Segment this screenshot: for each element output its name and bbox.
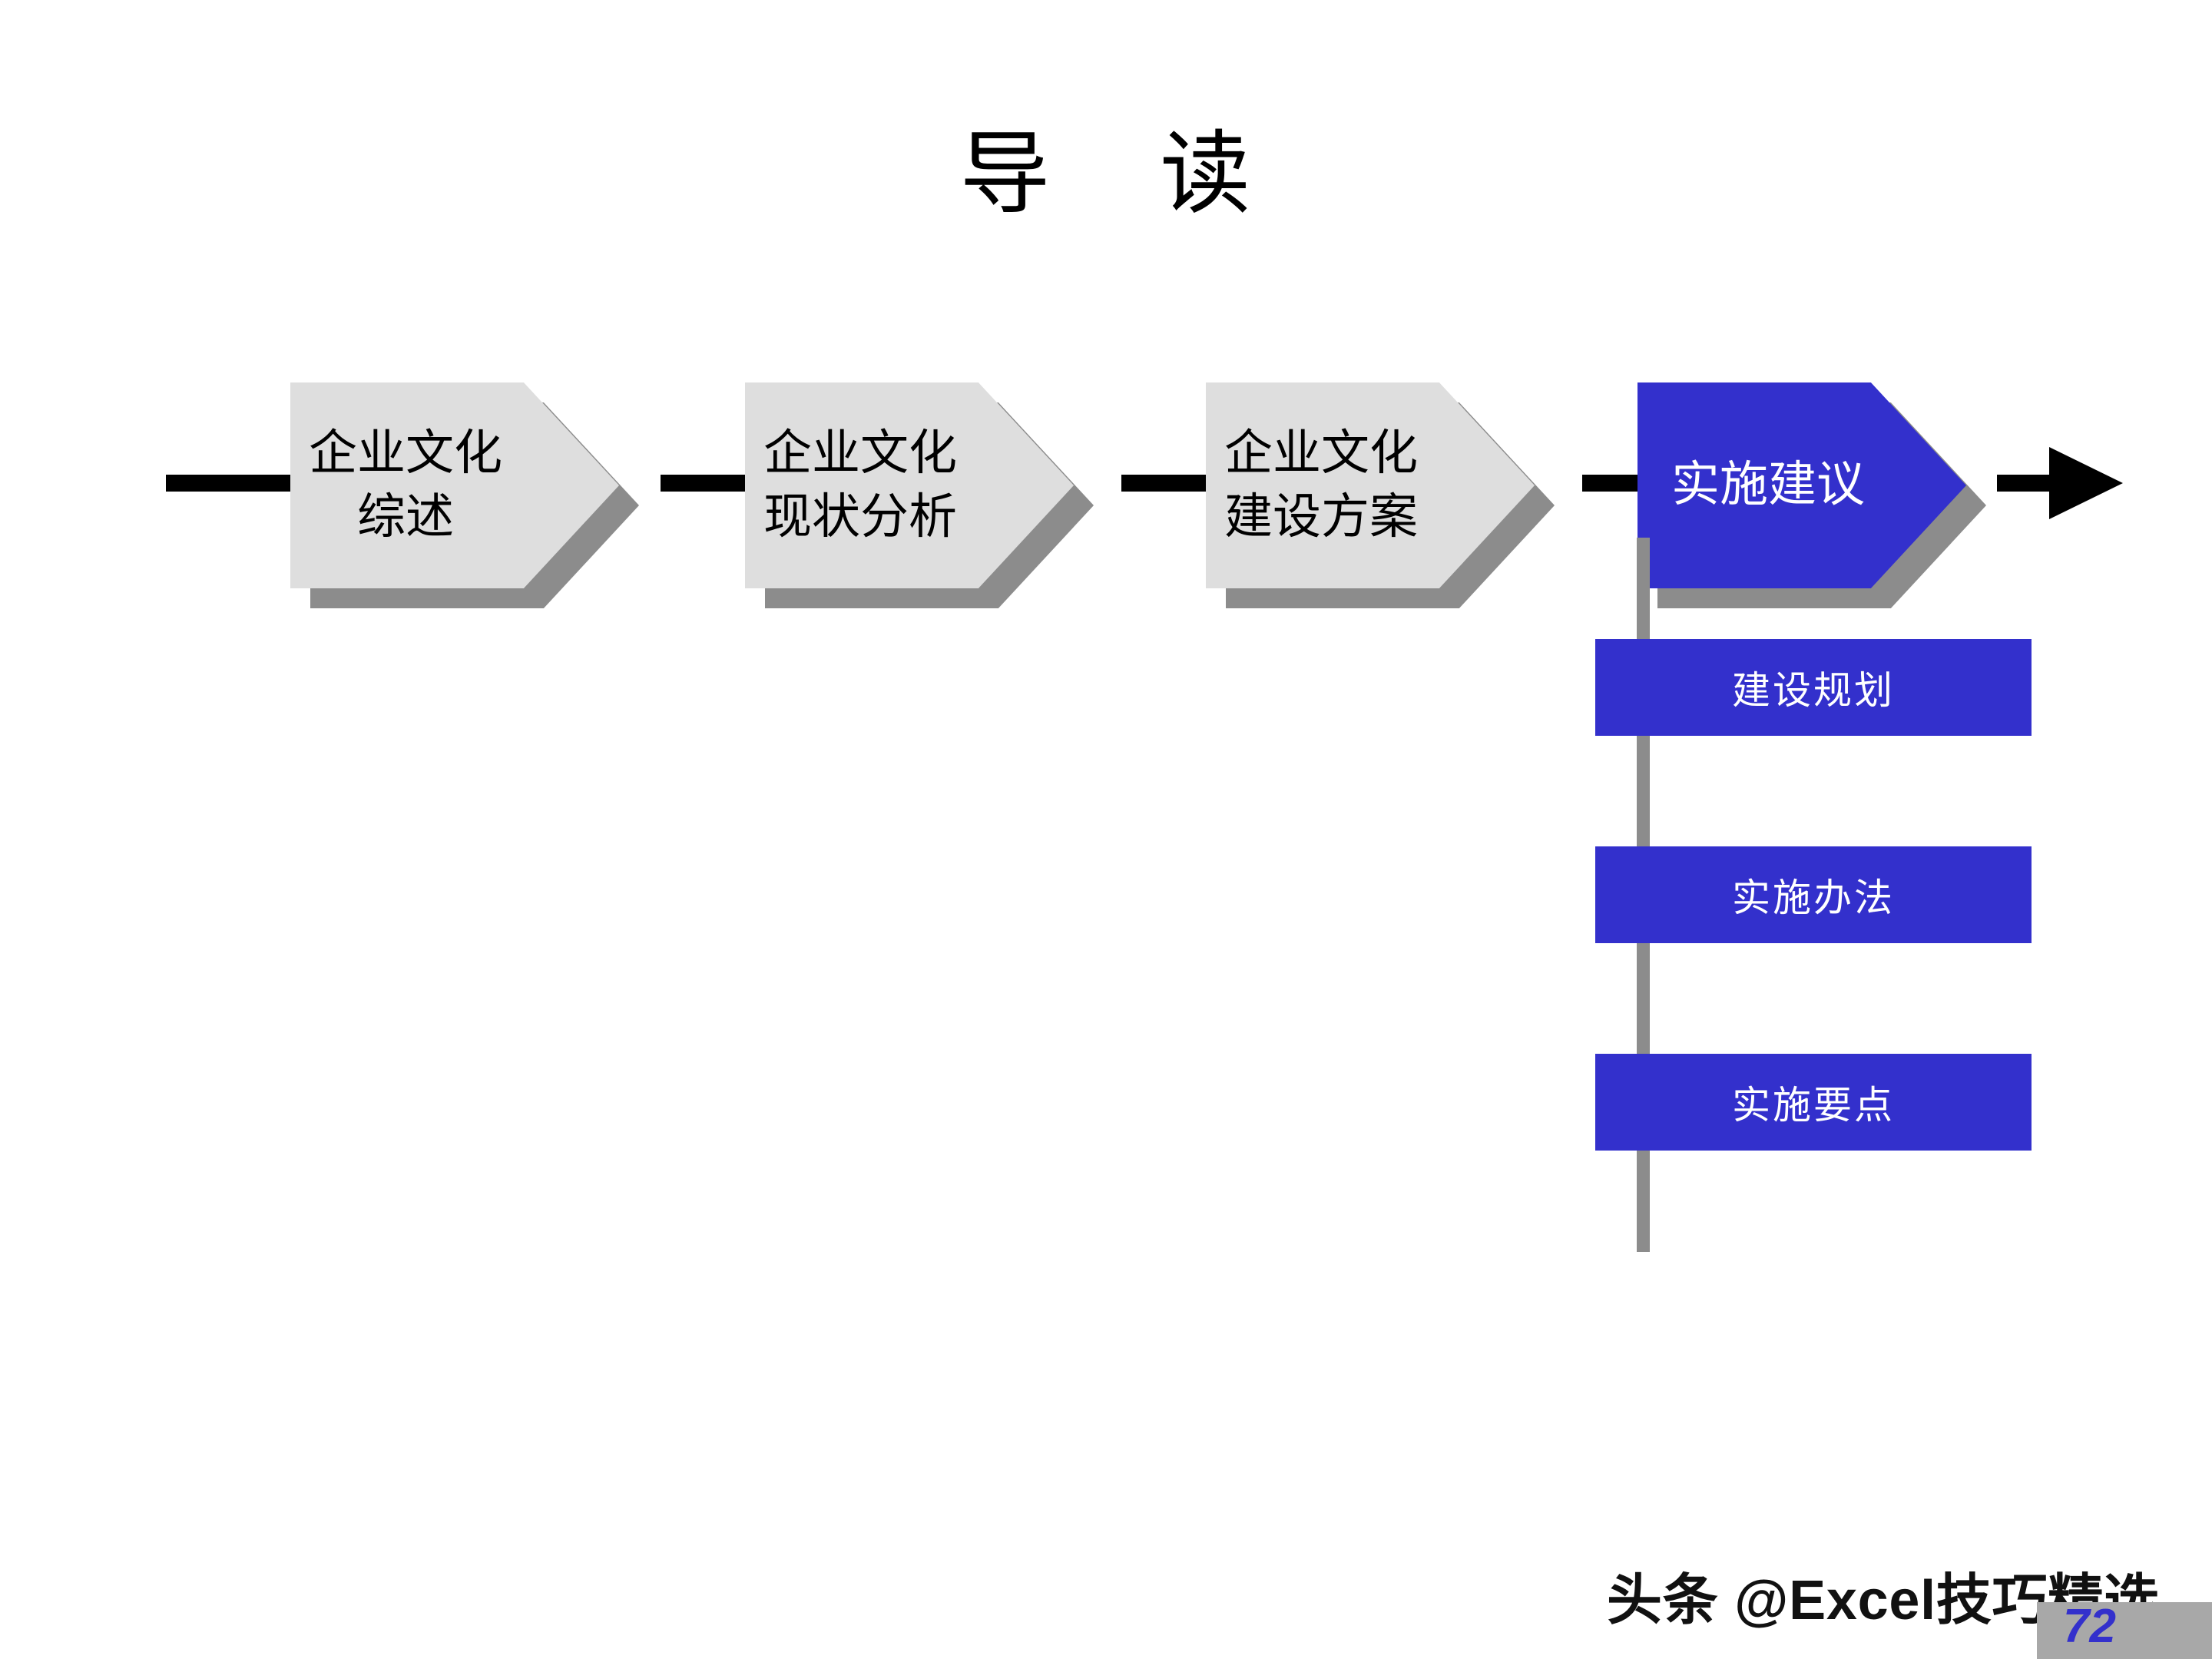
flow-step-label-line2: 现状分析 (763, 485, 957, 549)
flow-step-3[interactable]: 企业文化 建设方案 (1206, 382, 1535, 588)
page-number: 72 (2063, 1599, 2116, 1654)
flow-step-label: 实施建议 (1637, 382, 1899, 588)
sub-item-1[interactable]: 建设规划 (1595, 639, 2032, 736)
sub-item-label: 实施办法 (1732, 867, 1895, 922)
sub-item-2[interactable]: 实施办法 (1595, 846, 2032, 943)
arrow-right-icon (2049, 447, 2123, 519)
flow-step-label-line2: 综述 (357, 485, 454, 549)
flow-step-label-line1: 企业文化 (309, 422, 502, 485)
spine-segment-2 (1121, 475, 1206, 492)
flow-step-label-line2: 建设方案 (1224, 485, 1418, 549)
sub-item-label: 建设规划 (1732, 660, 1895, 715)
page-title: 导 读 (0, 129, 2212, 220)
flow-step-label-line1: 企业文化 (1224, 422, 1418, 485)
spine-segment-0 (166, 475, 290, 492)
sub-item-label: 实施要点 (1732, 1075, 1895, 1130)
flow-step-4-active[interactable]: 实施建议 (1637, 382, 1966, 588)
flow-step-label: 企业文化 建设方案 (1206, 382, 1436, 588)
flow-step-1[interactable]: 企业文化 综述 (290, 382, 619, 588)
flow-step-label-line1: 企业文化 (763, 422, 957, 485)
flow-step-label-line1: 实施建议 (1671, 453, 1865, 517)
flow-step-2[interactable]: 企业文化 现状分析 (745, 382, 1074, 588)
flow-step-label: 企业文化 综述 (290, 382, 521, 588)
spine-segment-1 (661, 475, 745, 492)
sub-item-3[interactable]: 实施要点 (1595, 1054, 2032, 1151)
flow-step-label: 企业文化 现状分析 (745, 382, 975, 588)
